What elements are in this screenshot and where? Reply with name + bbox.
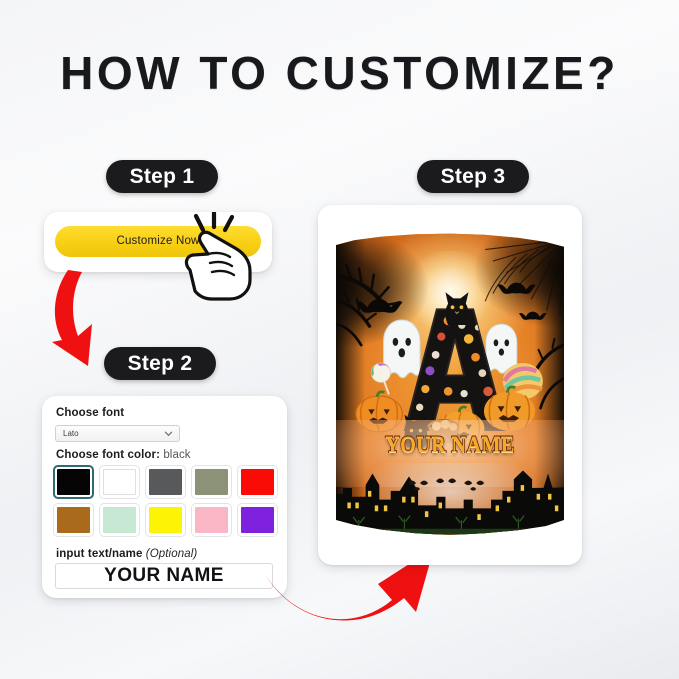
color-swatch-brown[interactable] <box>53 503 94 537</box>
selected-color-value: black <box>163 449 190 461</box>
step-3-badge: Step 3 <box>417 160 529 193</box>
color-swatch-sage-green[interactable] <box>191 465 232 499</box>
color-swatch-red[interactable] <box>237 465 278 499</box>
color-swatch-white[interactable] <box>99 465 140 499</box>
input-optional-text: (Optional) <box>146 548 198 560</box>
blanket-name-text: YOUR NAME <box>336 432 564 459</box>
click-spark-lines <box>196 213 232 230</box>
color-swatch-black[interactable] <box>53 465 94 499</box>
color-swatch-mint[interactable] <box>99 503 140 537</box>
choose-font-label: Choose font <box>56 407 124 419</box>
page-title: HOW TO CUSTOMIZE? <box>0 46 679 100</box>
chevron-down-icon <box>164 429 173 438</box>
color-swatch-pink[interactable] <box>191 503 232 537</box>
bat-icon <box>518 305 548 329</box>
color-swatch-grid <box>53 465 277 537</box>
pointing-hand-icon <box>160 212 275 304</box>
product-preview: YOUR NAME <box>336 233 564 535</box>
name-input[interactable]: YOUR NAME <box>55 563 273 589</box>
black-cat-icon <box>441 284 473 332</box>
input-text-name-label: input text/name (Optional) <box>56 548 197 560</box>
step-1-badge: Step 1 <box>106 160 218 193</box>
arrow-step1-to-step2 <box>30 268 140 368</box>
glowing-eyes-icon <box>400 472 500 496</box>
color-swatch-yellow[interactable] <box>145 503 186 537</box>
color-swatch-dark-gray[interactable] <box>145 465 186 499</box>
name-input-value: YOUR NAME <box>104 565 224 587</box>
step-2-card: Choose font Lato Choose font color: blac… <box>42 396 287 598</box>
halloween-blanket-image: YOUR NAME <box>336 233 564 535</box>
font-select[interactable]: Lato <box>55 425 180 442</box>
choose-font-color-label: Choose font color: black <box>56 449 191 461</box>
choose-font-color-text: Choose font color: <box>56 449 160 461</box>
font-select-value: Lato <box>63 429 79 438</box>
input-text-name-text: input text/name <box>56 548 142 560</box>
